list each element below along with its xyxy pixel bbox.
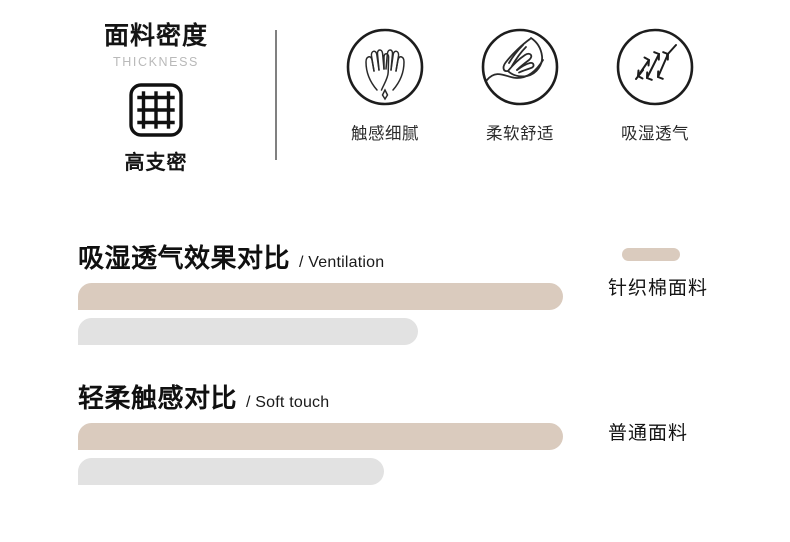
bar-knit-ventilation: [78, 283, 563, 310]
bar-normal-ventilation: [78, 318, 418, 345]
fabric-density-caption: 高支密: [86, 146, 226, 175]
chart-soft-touch-subtitle: / Soft touch: [246, 394, 329, 412]
feature-band: 面料密度 THICKNESS 高支密: [0, 0, 790, 200]
chart-soft-touch-title: 轻柔触感对比: [78, 378, 237, 415]
bar-row-normal: [78, 458, 718, 485]
chart-ventilation-heading: 吸湿透气效果对比 / Ventilation: [78, 238, 384, 275]
chart-ventilation-title: 吸湿透气效果对比: [78, 238, 290, 275]
airflow-arrows-icon: [600, 26, 710, 108]
feature-item-soft: 柔软舒适: [465, 26, 575, 144]
chart-soft-touch-heading: 轻柔触感对比 / Soft touch: [78, 378, 329, 415]
legend-label-knit: 针织棉面料: [608, 273, 778, 300]
feature-item-touch: 触感细腻: [330, 26, 440, 144]
vertical-divider: [275, 30, 277, 160]
fabric-density-title: 面料密度: [86, 22, 226, 51]
legend-label-normal: 普通面料: [608, 418, 778, 445]
legend-secondary: 普通面料: [608, 418, 778, 445]
legend-swatch-knit: [622, 248, 680, 261]
feature-label-touch: 触感细腻: [330, 120, 440, 144]
bar-normal-soft-touch: [78, 458, 384, 485]
two-hands-icon: [330, 26, 440, 108]
fabric-density-block: 面料密度 THICKNESS 高支密: [86, 22, 226, 175]
chart-ventilation-subtitle: / Ventilation: [299, 254, 384, 272]
feature-label-breathable: 吸湿透气: [600, 120, 710, 144]
bar-knit-soft-touch: [78, 423, 563, 450]
feature-list: 触感细腻 柔软舒适: [330, 26, 710, 144]
grid-mesh-icon: [86, 81, 226, 139]
feature-label-soft: 柔软舒适: [465, 120, 575, 144]
hand-on-fabric-icon: [465, 26, 575, 108]
fabric-density-subtitle: THICKNESS: [86, 55, 226, 69]
bar-row-normal: [78, 318, 718, 345]
feature-item-breathable: 吸湿透气: [600, 26, 710, 144]
legend-primary: 针织棉面料: [608, 248, 778, 300]
